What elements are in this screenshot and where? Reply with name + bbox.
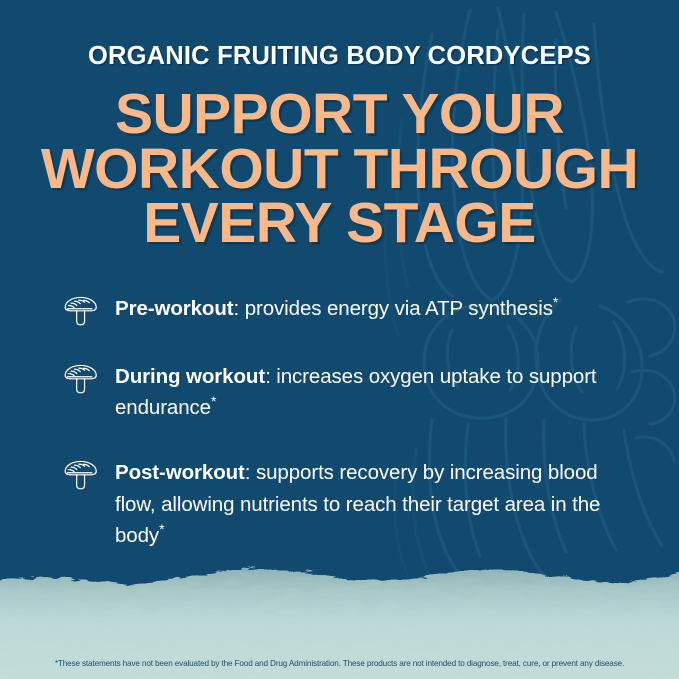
list-item: Post-workout: supports recovery by incre… (62, 457, 639, 550)
list-item-lead: Post-workout (115, 461, 245, 484)
list-item-lead: During workout (115, 365, 265, 388)
eyebrow-heading: ORGANIC FRUITING BODY CORDYCEPS (0, 42, 679, 71)
list-item-body: provides energy via ATP synthesis (245, 297, 553, 320)
list-item-separator: : (234, 297, 245, 320)
mushroom-icon (62, 363, 100, 395)
list-item-separator: : (245, 461, 256, 484)
footnote-marker: * (159, 521, 164, 537)
footnote-marker: * (553, 294, 558, 310)
fda-disclaimer-text: *These statements have not been evaluate… (0, 659, 679, 668)
cordyceps-promo-poster: ORGANIC FRUITING BODY CORDYCEPS SUPPORT … (0, 0, 679, 679)
list-item: During workout: increases oxygen uptake … (62, 361, 639, 423)
mushroom-icon (62, 295, 100, 327)
list-item-text: Pre-workout: provides energy via ATP syn… (115, 293, 558, 324)
torn-paper-footer-panel: *These statements have not been evaluate… (0, 549, 679, 679)
list-item-lead: Pre-workout (115, 297, 234, 320)
headline-line-3: EVERY STAGE (0, 196, 679, 251)
page-title: SUPPORT YOUR WORKOUT THROUGH EVERY STAGE (0, 87, 679, 251)
list-item: Pre-workout: provides energy via ATP syn… (62, 293, 639, 327)
headline-line-1: SUPPORT YOUR (0, 87, 679, 142)
list-item-separator: : (265, 365, 276, 388)
benefit-list: Pre-workout: provides energy via ATP syn… (0, 293, 679, 551)
footnote-marker: * (211, 393, 216, 409)
mushroom-icon (62, 459, 100, 491)
headline-line-2: WORKOUT THROUGH (0, 142, 679, 197)
poster-content: ORGANIC FRUITING BODY CORDYCEPS SUPPORT … (0, 0, 679, 585)
list-item-text: Post-workout: supports recovery by incre… (115, 457, 615, 550)
list-item-text: During workout: increases oxygen uptake … (115, 361, 615, 423)
